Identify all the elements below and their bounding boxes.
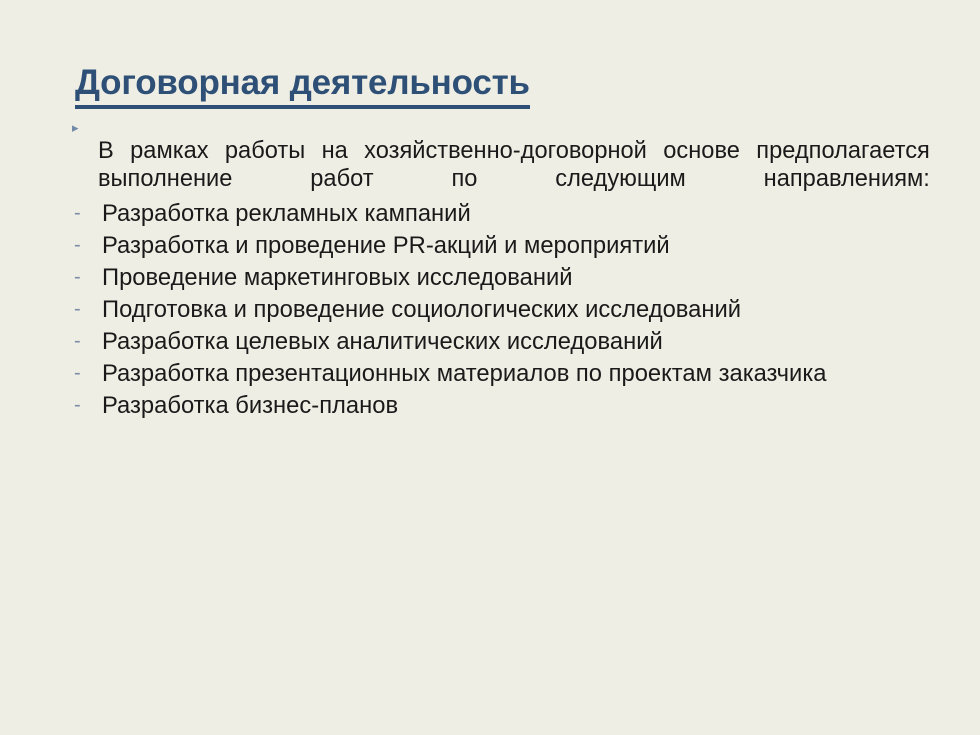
dash-bullet-icon: - xyxy=(72,262,102,292)
list-item: - Подготовка и проведение социологически… xyxy=(72,294,972,326)
list-item-label: Разработка рекламных кампаний xyxy=(102,198,946,229)
list-item-label: Разработка презентационных материалов по… xyxy=(102,358,946,389)
intro-paragraph-text: В рамках работы на хозяйственно-договорн… xyxy=(98,137,930,193)
presentation-slide: Договорная деятельность ▸ В рамках работ… xyxy=(0,0,980,735)
dash-bullet-icon: - xyxy=(72,198,102,228)
list-item-label: Проведение маркетинговых исследований xyxy=(102,262,946,293)
list-item: - Разработка рекламных кампаний xyxy=(72,198,972,230)
list-item-label: Разработка бизнес-планов xyxy=(102,390,946,421)
list-item: - Разработка и проведение PR-акций и мер… xyxy=(72,230,972,262)
list-item: - Разработка бизнес-планов xyxy=(72,390,972,422)
dash-bullet-icon: - xyxy=(72,358,102,388)
list-item-label: Подготовка и проведение социологических … xyxy=(102,294,946,325)
dash-bullet-icon: - xyxy=(72,294,102,324)
list-item: - Разработка презентационных материалов … xyxy=(72,358,972,390)
list-item-label: Разработка и проведение PR-акций и мероп… xyxy=(102,230,946,261)
list-item-label: Разработка целевых аналитических исследо… xyxy=(102,326,946,357)
list-item: - Проведение маркетинговых исследований xyxy=(72,262,972,294)
page-title: Договорная деятельность xyxy=(75,65,530,109)
list-item: - Разработка целевых аналитических иссле… xyxy=(72,326,972,358)
services-list: - Разработка рекламных кампаний - Разраб… xyxy=(72,198,972,422)
triangle-right-icon: ▸ xyxy=(72,112,98,134)
dash-bullet-icon: - xyxy=(72,230,102,260)
dash-bullet-icon: - xyxy=(72,326,102,356)
dash-bullet-icon: - xyxy=(72,390,102,420)
